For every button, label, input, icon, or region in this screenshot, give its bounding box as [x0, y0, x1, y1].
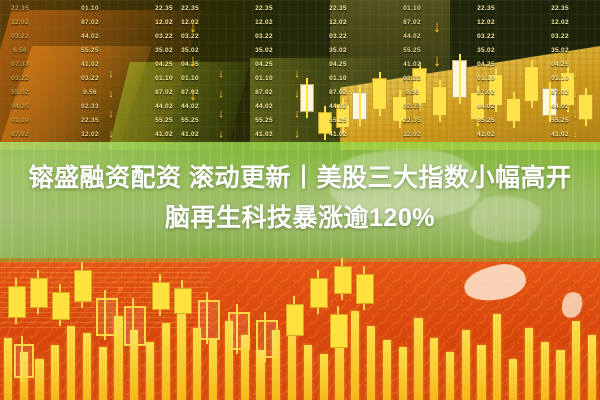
- candlestick-body: [30, 278, 48, 308]
- quote-value: 35.02: [538, 44, 582, 58]
- candlestick: [14, 344, 30, 374]
- arrow-down-icon-column: ↓↓↓↓↓↓: [214, 64, 228, 150]
- quote-column: 22.3512.0203.2235.0204.2501.1087.0244.02…: [316, 2, 360, 142]
- quote-value: 87.02: [316, 86, 360, 100]
- quote-value: 01.10: [390, 2, 434, 16]
- candlestick-wick: [306, 78, 308, 118]
- quote-value: 6.56: [0, 44, 42, 58]
- quote-value: 03.22: [390, 72, 434, 86]
- arrow-down-icon: ↓: [290, 104, 304, 124]
- candlestick: [96, 298, 114, 332]
- quote-value: 03.22: [464, 30, 508, 44]
- quote-value: 44.02: [68, 30, 112, 44]
- candlestick: [74, 270, 90, 300]
- candlestick-wick: [513, 92, 515, 128]
- bar: [525, 328, 533, 400]
- quote-value: 04.25: [464, 58, 508, 72]
- arrow-down-icon: ↓: [186, 78, 200, 112]
- quote-value: 41.02: [390, 58, 434, 72]
- bar: [35, 359, 43, 400]
- quote-value: 35.02: [464, 44, 508, 58]
- bar: [4, 338, 12, 400]
- bar: [446, 352, 454, 400]
- candlestick: [124, 306, 142, 342]
- quote-value: 12.02: [390, 128, 434, 142]
- quote-value: 22.35: [242, 2, 286, 16]
- candlestick-body: [228, 312, 250, 350]
- arrow-down-icon: ↓: [430, 44, 444, 78]
- candlestick-wick: [459, 54, 461, 104]
- candlestick-body: [8, 286, 26, 318]
- headline-text: 镕盛融资配资 滚动更新丨美股三大指数小幅高开 脑再生科技暴涨逾120%: [0, 158, 600, 238]
- quote-value: 22.35: [538, 2, 582, 16]
- bar: [399, 347, 407, 400]
- candlestick-body: [330, 314, 348, 348]
- headline-line-1: 镕盛融资配资 滚动更新丨美股三大指数小幅高开: [0, 158, 600, 198]
- quote-value: 55.25: [242, 114, 286, 128]
- candlestick: [372, 78, 387, 110]
- quote-value: 22.35: [464, 2, 508, 16]
- bar: [383, 340, 391, 400]
- arrow-down-icon-column: ↓↓: [430, 10, 444, 78]
- quote-value: 41.02: [316, 128, 360, 142]
- candlestick: [310, 278, 326, 306]
- candlestick-body: [152, 282, 170, 310]
- candlestick: [432, 86, 447, 116]
- candlestick-body: [286, 304, 304, 336]
- quote-value: 03.22: [538, 30, 582, 44]
- bar: [477, 345, 485, 400]
- candlestick: [30, 278, 46, 306]
- candlestick-body: [124, 306, 146, 346]
- bar: [462, 330, 470, 400]
- quote-value: 44.02: [316, 100, 360, 114]
- arrow-down-icon: ↓: [568, 124, 582, 144]
- arrow-down-icon: ↓: [186, 44, 200, 78]
- quote-value: 22.35: [390, 114, 434, 128]
- arrow-down-icon: ↓: [214, 84, 228, 104]
- quote-value: 04.25: [316, 58, 360, 72]
- arrow-down-icon: ↓: [568, 64, 582, 84]
- quote-value: 44.02: [390, 30, 434, 44]
- quote-value: 35.02: [242, 44, 286, 58]
- arrow-down-icon: ↓: [290, 84, 304, 104]
- arrow-down-icon: ↓: [186, 10, 200, 44]
- quote-value: 55.25: [168, 114, 212, 128]
- quote-value: 03.22: [242, 30, 286, 44]
- quote-value: 87.02: [242, 86, 286, 100]
- candlestick-body: [74, 270, 92, 302]
- quote-value: 03.22: [0, 30, 42, 44]
- candlestick-body: [198, 300, 220, 340]
- bar: [588, 335, 596, 400]
- quote-value: 22.35: [316, 2, 360, 16]
- quote-value: 03.22: [0, 72, 42, 86]
- bar: [146, 342, 154, 400]
- candlestick: [256, 320, 274, 354]
- quote-value: 55.25: [68, 44, 112, 58]
- bar: [83, 333, 91, 400]
- candlestick-wick: [531, 60, 533, 108]
- quote-value: 87.02: [464, 86, 508, 100]
- bar: [99, 347, 107, 400]
- quote-value: 01.10: [68, 2, 112, 16]
- quote-value: 07.33: [0, 58, 42, 72]
- news-cover-image: 22.3512.0203.226.5607.3303.2255.0204.250…: [0, 0, 600, 400]
- candlestick-body: [14, 344, 34, 378]
- quote-value: 12.02: [464, 16, 508, 30]
- quote-column: 01.1087.0244.0255.2541.0203.229.5602.332…: [390, 2, 434, 142]
- quote-value: 41.02: [464, 128, 508, 142]
- candlestick: [8, 286, 24, 316]
- quote-value: 04.25: [242, 58, 286, 72]
- candlestick-wick: [439, 80, 441, 122]
- quote-value: 12.02: [0, 16, 42, 30]
- arrow-down-icon: ↓: [214, 64, 228, 84]
- quote-value: 87.02: [390, 16, 434, 30]
- arrow-down-icon: ↓: [104, 64, 118, 84]
- quote-value: 44.02: [242, 100, 286, 114]
- headline-line-2: 脑再生科技暴涨逾120%: [0, 198, 600, 238]
- arrow-down-icon-column: ↓↓↓↓↓: [568, 64, 582, 150]
- quote-value: 12.02: [538, 16, 582, 30]
- quote-value: 41.02: [168, 128, 212, 142]
- arrow-down-icon: ↓: [104, 84, 118, 104]
- candlestick: [330, 314, 346, 346]
- quote-value: 41.02: [242, 128, 286, 142]
- quote-value: 12.02: [242, 16, 286, 30]
- quote-value: 55.25: [316, 114, 360, 128]
- candlestick: [52, 292, 68, 318]
- candlestick-body: [96, 298, 118, 336]
- candlestick-wick: [379, 72, 381, 116]
- bar: [367, 326, 375, 400]
- bar: [572, 321, 580, 400]
- arrow-down-icon-column: ↓↓↓↓↓↓: [104, 64, 118, 150]
- candlestick-body: [52, 292, 70, 320]
- quote-value: 01.10: [242, 72, 286, 86]
- quote-board-region: 22.3512.0203.226.5607.3303.2255.0204.250…: [0, 0, 600, 150]
- quote-value: 12.02: [316, 16, 360, 30]
- arrow-down-icon-column: ↓↓↓↓↓: [290, 64, 304, 150]
- candlestick-wick: [585, 88, 587, 126]
- bar: [430, 338, 438, 400]
- bar: [509, 359, 517, 400]
- quote-value: 01.10: [316, 72, 360, 86]
- candlestick-body: [334, 266, 352, 294]
- arrow-down-icon: ↓: [104, 124, 118, 144]
- quote-value: 22.35: [0, 2, 42, 16]
- arrow-down-icon: ↓: [568, 84, 582, 104]
- quote-value: 44.02: [464, 100, 508, 114]
- bar: [162, 323, 170, 400]
- bar: [541, 342, 549, 400]
- candlestick: [334, 266, 350, 292]
- arrow-down-icon: ↓: [568, 104, 582, 124]
- quote-value: 9.56: [390, 86, 434, 100]
- bar: [556, 350, 564, 400]
- quote-value: 87.02: [0, 128, 42, 142]
- bar: [351, 311, 359, 400]
- candlestick-body: [174, 288, 192, 314]
- quote-value: 55.25: [464, 114, 508, 128]
- candlestick: [356, 274, 372, 302]
- candlestick: [286, 304, 302, 334]
- arrow-down-icon: ↓: [104, 104, 118, 124]
- bar: [414, 318, 422, 400]
- quote-value: 01.10: [464, 72, 508, 86]
- bar: [177, 314, 185, 400]
- candlestick: [152, 282, 168, 308]
- candlestick: [174, 288, 190, 312]
- arrow-down-icon: ↓: [214, 124, 228, 144]
- quote-value: 04.25: [0, 100, 42, 114]
- quote-value: 55.02: [0, 86, 42, 100]
- arrow-down-icon: ↓: [430, 10, 444, 44]
- quote-column: 22.3512.0203.226.5607.3303.2255.0204.250…: [0, 2, 42, 142]
- bar: [320, 354, 328, 400]
- bar: [209, 340, 217, 400]
- quote-value: 55.25: [390, 44, 434, 58]
- candlestick: [506, 98, 521, 122]
- arrow-down-icon: ↓: [214, 104, 228, 124]
- quote-value: 01.10: [0, 114, 42, 128]
- arrow-down-icon: ↓: [290, 124, 304, 144]
- bar: [67, 326, 75, 400]
- bottom-chart-region: [0, 258, 600, 400]
- quote-column: 22.3512.0203.2235.0204.2501.1087.0244.02…: [464, 2, 508, 142]
- candlestick-body: [356, 274, 374, 304]
- quote-value: 87.02: [68, 16, 112, 30]
- quote-value: 02.33: [390, 100, 434, 114]
- candlestick-body: [256, 320, 278, 358]
- candlestick-body: [310, 278, 328, 308]
- quote-value: 35.02: [316, 44, 360, 58]
- candlestick: [198, 300, 216, 336]
- quote-column: 22.3512.0203.2235.0204.2501.1087.0244.02…: [242, 2, 286, 142]
- bar: [304, 345, 312, 400]
- arrow-down-icon-column: ↓↓↓: [186, 10, 200, 112]
- bar: [51, 345, 59, 400]
- candlestick: [228, 312, 246, 346]
- quote-value: 03.22: [316, 30, 360, 44]
- candlestick: [524, 66, 539, 102]
- arrow-down-icon: ↓: [290, 64, 304, 84]
- bar: [493, 314, 501, 400]
